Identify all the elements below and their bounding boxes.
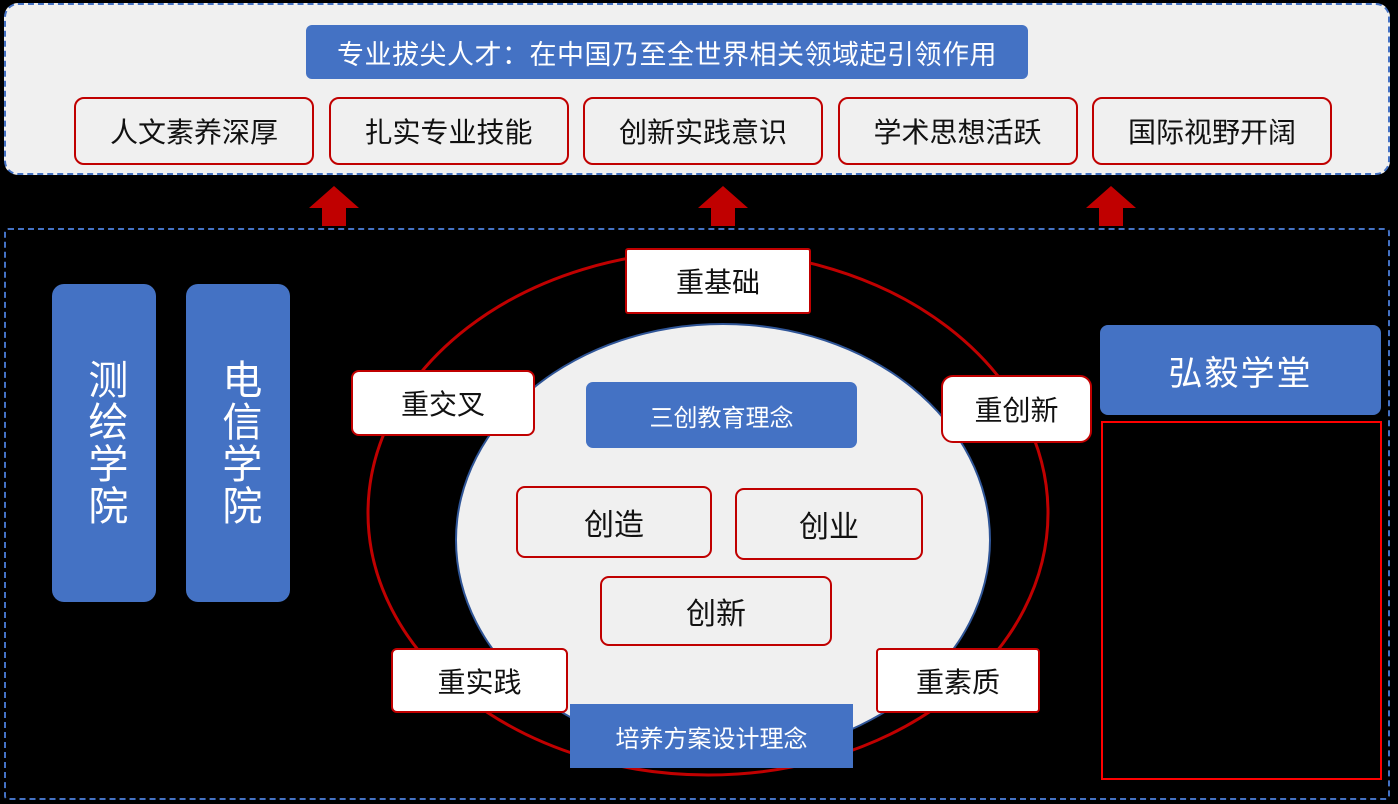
trait-box-4: 国际视野开阔: [1092, 97, 1332, 165]
trait-box-3: 学术思想活跃: [838, 97, 1078, 165]
hongyi-academy-body: [1101, 421, 1382, 780]
orbit-label-suzhi: 重素质: [876, 648, 1040, 713]
orbit-label-jichu: 重基础: [625, 248, 811, 314]
concept-title: 三创教育理念: [586, 382, 857, 448]
trait-box-2: 创新实践意识: [583, 97, 823, 165]
up-arrow-icon-2: [1084, 184, 1138, 228]
orbit-label-shijian: 重实践: [391, 648, 568, 713]
college-box-cehui: 测绘学院: [52, 284, 156, 602]
up-arrow-icon-1: [696, 184, 750, 228]
trait-row: 人文素养深厚 扎实专业技能 创新实践意识 学术思想活跃 国际视野开阔: [74, 97, 1332, 165]
college-box-dianxin: 电信学院: [186, 284, 290, 602]
trait-box-1: 扎实专业技能: [329, 97, 569, 165]
orbit-label-jiaocha: 重交叉: [351, 370, 535, 436]
orbit-label-chuangxin: 重创新: [941, 375, 1092, 443]
talent-goal-panel: 专业拔尖人才：在中国乃至全世界相关领域起引领作用 人文素养深厚 扎实专业技能 创…: [4, 3, 1390, 175]
trait-box-0: 人文素养深厚: [74, 97, 314, 165]
diagram-canvas: 专业拔尖人才：在中国乃至全世界相关领域起引领作用 人文素养深厚 扎实专业技能 创…: [0, 0, 1398, 804]
inner-box-chuangxin: 创新: [600, 576, 832, 646]
plan-design-title: 培养方案设计理念: [570, 704, 853, 768]
goal-banner: 专业拔尖人才：在中国乃至全世界相关领域起引领作用: [306, 25, 1028, 79]
hongyi-academy-title: 弘毅学堂: [1100, 325, 1381, 415]
inner-box-chuangye: 创业: [735, 488, 923, 560]
inner-box-chuangzao: 创造: [516, 486, 712, 558]
up-arrow-icon-0: [307, 184, 361, 228]
